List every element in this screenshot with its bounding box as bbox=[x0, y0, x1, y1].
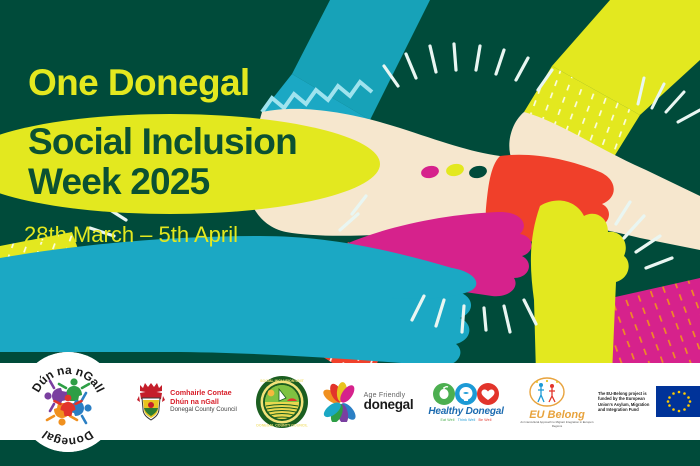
logo-donegal-dun-na-ngall: Dún na nGall Donegal bbox=[18, 352, 118, 452]
logo-eu-belong: EU Belong An Intercultural Approach to M… bbox=[516, 363, 598, 440]
donegal-circle-icon: Dún na nGall Donegal bbox=[18, 352, 118, 452]
logo-donegal-county-council: Comhairle Contae Dhún na nGall Donegal C… bbox=[128, 363, 246, 440]
age-friendly-petals-icon bbox=[321, 382, 361, 422]
logo-social-inclusion-unit: SOCIAL INCLUSION UNIT DONEGAL COUNTY COU… bbox=[246, 363, 318, 440]
logo-healthy-donegal: Healthy Donegal Eat Well Think Well Be W… bbox=[416, 363, 516, 440]
county-crest-icon bbox=[137, 382, 165, 422]
healthy-donegal-title: Healthy Donegal bbox=[428, 406, 503, 417]
healthy-donegal-icons bbox=[432, 382, 500, 406]
eu-flag-icon bbox=[656, 386, 700, 417]
dcc-irish-line-2: Dhún na nGall bbox=[170, 397, 237, 406]
healthy-donegal-subtitle: Eat Well Think Well Be Well bbox=[440, 418, 491, 422]
healthy-sub-2: Think Well bbox=[458, 418, 476, 422]
age-friendly-text-block: Age Friendly donegal bbox=[364, 392, 414, 412]
logo-age-friendly-donegal: Age Friendly donegal bbox=[318, 363, 416, 440]
healthy-sub-3: Be Well bbox=[479, 418, 492, 422]
eu-belong-subtitle: An Intercultural Approach to Migrant Int… bbox=[516, 421, 598, 428]
healthy-sub-1: Eat Well bbox=[440, 418, 454, 422]
dcc-english-line: Donegal County Council bbox=[170, 406, 237, 414]
dcc-irish-line-1: Comhairle Contae bbox=[170, 388, 237, 397]
age-friendly-line-2: donegal bbox=[364, 399, 414, 412]
svg-text:DONEGAL COUNTY COUNCIL: DONEGAL COUNTY COUNCIL bbox=[256, 423, 308, 427]
eu-funding-statement: The EU-Belong project is funded by the E… bbox=[598, 391, 650, 412]
eu-belong-icon bbox=[522, 375, 592, 409]
svg-text:SOCIAL INCLUSION UNIT: SOCIAL INCLUSION UNIT bbox=[260, 379, 304, 383]
poster-root: One Donegal Social Inclusion Week 2025 2… bbox=[0, 0, 700, 466]
social-inclusion-seal-icon: SOCIAL INCLUSION UNIT DONEGAL COUNTY COU… bbox=[255, 375, 309, 429]
dcc-text-block: Comhairle Contae Dhún na nGall Donegal C… bbox=[170, 388, 237, 414]
logo-eu-funding: The EU-Belong project is funded by the E… bbox=[598, 363, 700, 440]
